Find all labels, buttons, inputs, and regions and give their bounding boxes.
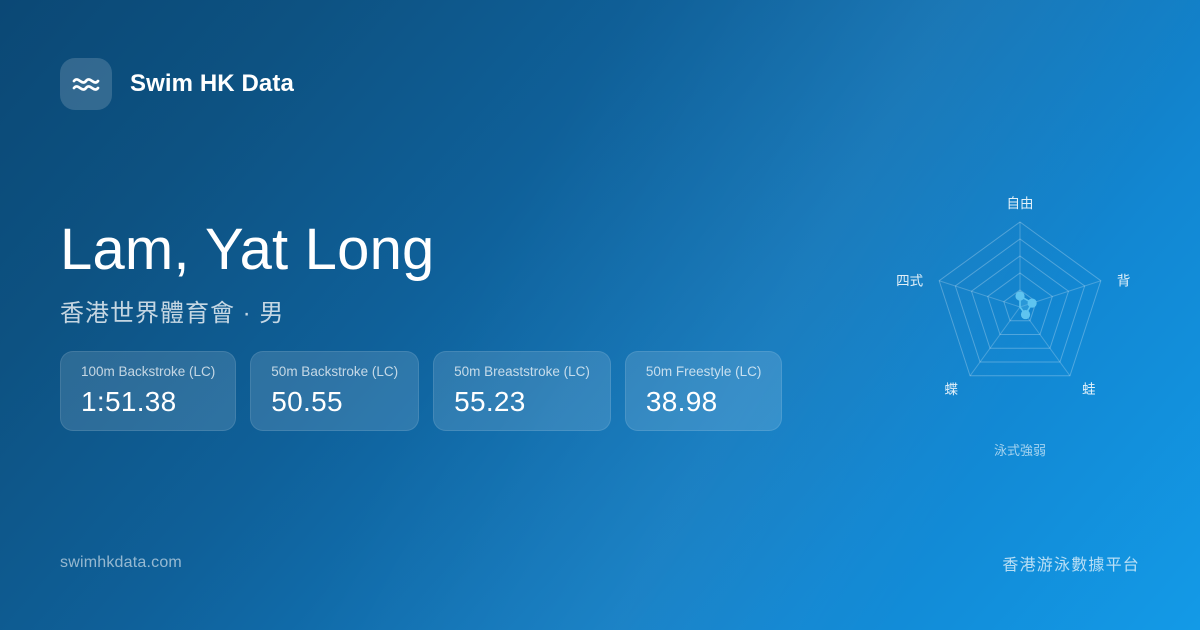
radar-data-point (1028, 298, 1037, 307)
radar-axis-label: 自由 (1007, 196, 1034, 211)
og-card-root: Swim HK Data Lam, Yat Long 香港世界體育會 · 男 1… (0, 0, 1200, 630)
stroke-strength-radar-chart: 自由背蛙蝶四式 泳式強弱 (880, 168, 1160, 468)
brand-name: Swim HK Data (130, 70, 294, 98)
stat-card-label: 100m Backstroke (LC) (81, 365, 215, 379)
wave-approx-icon (60, 58, 112, 110)
radar-data-point (1015, 291, 1024, 300)
stat-card-label: 50m Freestyle (LC) (646, 365, 762, 379)
page-title: Lam, Yat Long (60, 218, 435, 283)
stat-card: 50m Freestyle (LC) 38.98 (625, 351, 783, 431)
stat-card-list: 100m Backstroke (LC) 1:51.38 50m Backstr… (60, 351, 782, 431)
stat-card-value: 38.98 (646, 388, 762, 416)
stat-card-value: 50.55 (271, 388, 398, 416)
athlete-hero: Lam, Yat Long 香港世界體育會 · 男 (60, 218, 435, 328)
footer-tagline: 香港游泳數據平台 (1002, 551, 1140, 575)
radar-axis-label: 蝶 (945, 382, 959, 397)
radar-axis-label: 背 (1117, 274, 1131, 289)
stat-card-value: 1:51.38 (81, 388, 215, 416)
stat-card-value: 55.23 (454, 388, 590, 416)
brand-header: Swim HK Data (60, 58, 294, 110)
athlete-meta: 香港世界體育會 · 男 (60, 293, 435, 328)
radar-caption: 泳式強弱 (994, 443, 1046, 458)
radar-axis-label: 蛙 (1082, 382, 1096, 397)
radar-data-point (1021, 310, 1030, 319)
footer: swimhkdata.com 香港游泳數據平台 (0, 551, 1200, 575)
radar-spoke (970, 307, 1020, 376)
stat-card: 100m Backstroke (LC) 1:51.38 (60, 351, 236, 431)
radar-spoke (939, 281, 1020, 307)
radar-axis-label: 四式 (896, 274, 924, 289)
stat-card: 50m Breaststroke (LC) 55.23 (433, 351, 611, 431)
stat-card-label: 50m Backstroke (LC) (271, 365, 398, 379)
radar-axis-labels: 自由背蛙蝶四式 (896, 196, 1130, 397)
stat-card-label: 50m Breaststroke (LC) (454, 365, 590, 379)
footer-site-url: swimhkdata.com (60, 554, 182, 572)
stat-card: 50m Backstroke (LC) 50.55 (250, 351, 419, 431)
